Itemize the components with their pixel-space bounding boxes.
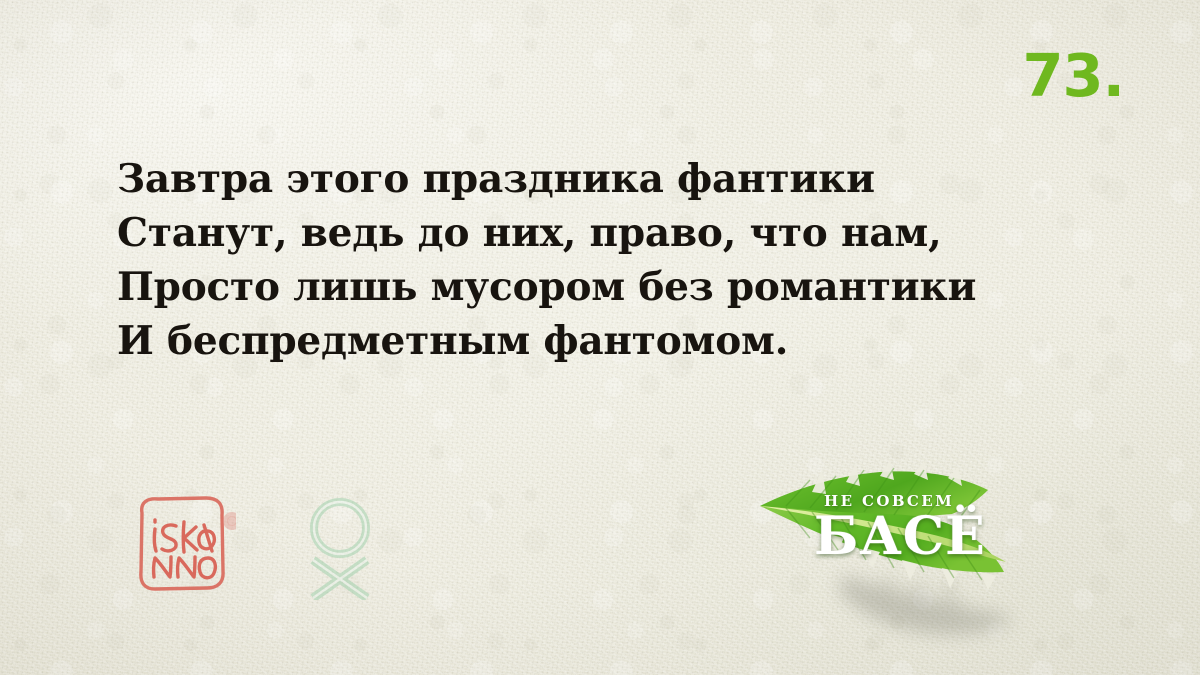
page-number: 73.	[1022, 46, 1124, 105]
poem-line-1: Завтра этого праздника фантики	[117, 152, 1117, 206]
poem-card: 73. Завтра этого праздника фантики Стану…	[0, 0, 1200, 675]
iskonno-dot-icon	[223, 512, 236, 530]
ox-logo	[297, 492, 383, 600]
ox-watermark-icon	[297, 492, 383, 600]
base-leaf-logo: НЕ СОВСЕМ БАСЁ	[752, 448, 1020, 648]
iskonno-logo	[128, 493, 236, 595]
poem-line-4: И беспредметным фантомом.	[117, 314, 1117, 368]
poem-line-2: Станут, ведь до них, право, что нам,	[117, 206, 1117, 260]
leaf-lower-blade	[760, 506, 1004, 572]
poem-line-3: Просто лишь мусором без романтики	[117, 260, 1117, 314]
iskonno-stamp-icon	[128, 493, 236, 595]
poem-body: Завтра этого праздника фантики Станут, в…	[117, 152, 1117, 368]
banana-leaf-icon	[752, 448, 1020, 648]
